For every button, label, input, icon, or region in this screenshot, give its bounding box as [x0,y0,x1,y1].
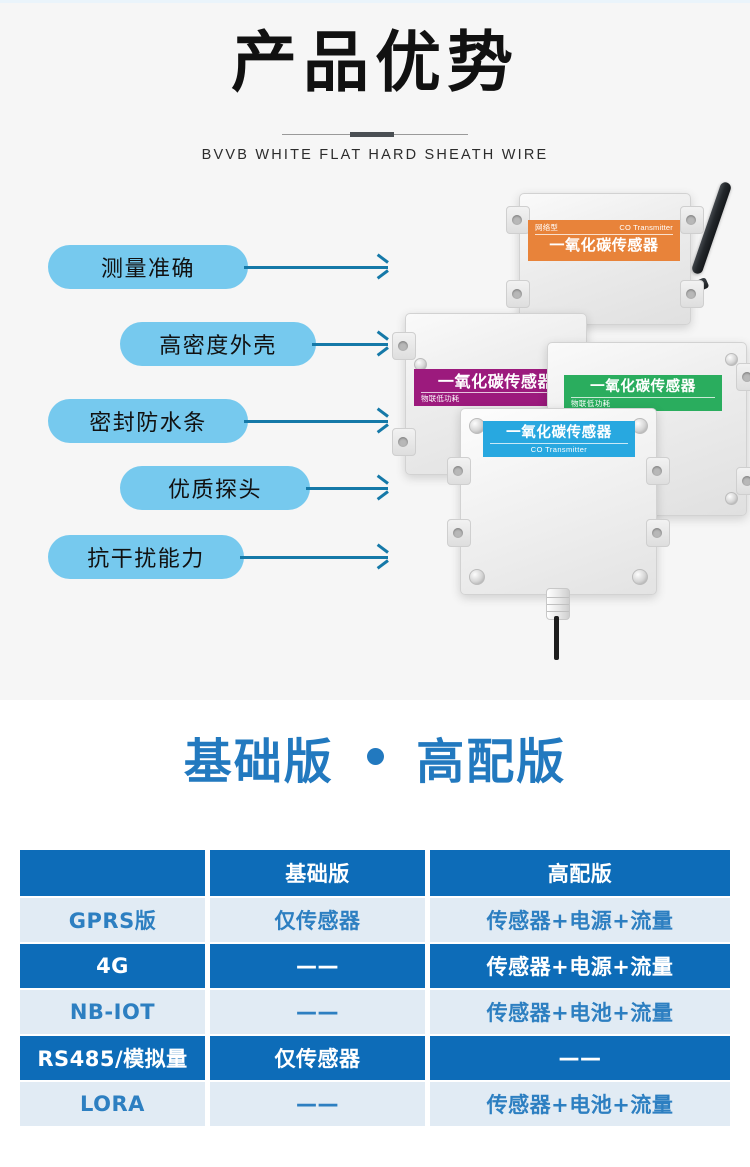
label-tag-left: 网络型 [535,223,558,233]
table-row: 4G —— 传感器+电源+流量 [20,944,730,988]
gland-ring [547,611,569,612]
row-basic-lora: —— [210,1082,425,1126]
product-label-green: 一氧化碳传感器 物联低功耗 [564,375,722,411]
edition-comparison-section: 基础版 高配版 基础版 高配版 GPRS版 仅传感器 传感器+电源+流量 [0,700,750,1167]
mount-ear [736,467,750,495]
mount-ear [392,428,416,456]
row-name-rs485: RS485/模拟量 [20,1036,205,1080]
mount-ear [447,457,471,485]
feature-pill-waterproof-seal[interactable]: 密封防水条 [48,399,248,443]
feature-pill-high-density-shell[interactable]: 高密度外壳 [120,322,316,366]
label-sub-text: CO Transmitter [490,445,628,455]
row-name-lora: LORA [20,1082,205,1126]
product-label-orange: 网络型 CO Transmitter 一氧化碳传感器 [528,220,680,261]
mount-hole [398,341,408,351]
mount-hole [742,372,750,382]
row-basic-rs485: 仅传感器 [210,1036,425,1080]
label-top-row: 网络型 CO Transmitter [535,223,673,233]
page-title: 产品优势 [0,28,750,97]
mount-hole [742,476,750,486]
product-photo-group: 网络型 CO Transmitter 一氧化碳传感器 一氧化碳传感器 [395,120,750,660]
row-name-4g: 4G [20,944,205,988]
row-basic-nbiot: —— [210,990,425,1034]
mount-hole [512,215,522,225]
mount-hole [453,466,463,476]
comparison-table: 基础版 高配版 GPRS版 仅传感器 传感器+电源+流量 4G —— 传感器+电… [20,850,730,1128]
label-tag-right: CO Transmitter [619,223,673,233]
feature-label: 密封防水条 [89,405,207,437]
row-premium-gprs: 传感器+电源+流量 [430,898,730,942]
label-main-text: 一氧化碳传感器 [490,424,628,442]
bullet-dot-icon [367,748,384,765]
table-header-row: 基础版 高配版 [20,850,730,896]
feature-row-5: 抗干扰能力 [48,535,388,579]
arrow-right-icon [244,419,388,423]
row-name-nbiot: NB-IOT [20,990,205,1034]
label-rule [490,443,628,444]
product-label-blue: 一氧化碳传感器 CO Transmitter [483,421,635,457]
product-advantage-page: 产品优势 BVVB WHITE FLAT HARD SHEATH WIRE 测量… [0,0,750,1167]
case-screw [725,353,738,366]
row-premium-rs485: —— [430,1036,730,1080]
label-main-text: 一氧化碳传感器 [535,236,673,255]
table-row: NB-IOT —— 传感器+电池+流量 [20,990,730,1034]
feature-row-2: 高密度外壳 [120,322,388,366]
table-row: RS485/模拟量 仅传感器 —— [20,1036,730,1080]
advantages-section: 产品优势 BVVB WHITE FLAT HARD SHEATH WIRE 测量… [0,0,750,700]
mount-ear [392,332,416,360]
arrow-head [374,413,389,428]
feature-pill-quality-probe[interactable]: 优质探头 [120,466,310,510]
case-diagonal-texture [620,264,682,316]
mount-ear [680,206,704,234]
case-diagonal-texture [676,455,738,507]
case-screw [469,569,485,585]
arrow-right-icon [244,265,388,269]
feature-pill-anti-interference[interactable]: 抗干扰能力 [48,535,244,579]
mount-hole [512,289,522,299]
row-basic-4g: —— [210,944,425,988]
label-sub-left: 物联低功耗 [421,394,460,404]
mount-hole [398,437,408,447]
table-row: GPRS版 仅传感器 传感器+电源+流量 [20,898,730,942]
mount-ear [506,206,530,234]
mount-hole [686,215,696,225]
arrow-shaft [244,266,388,269]
arrow-shaft [244,420,388,423]
section-heading: 基础版 高配版 [0,722,750,792]
row-premium-lora: 传感器+电池+流量 [430,1082,730,1126]
sensor-cable [554,616,559,660]
mount-ear [646,519,670,547]
arrow-right-icon [312,342,388,346]
arrow-right-icon [240,555,388,559]
divider-thick-line [350,132,394,137]
arrow-head [374,549,389,564]
arrow-head [374,480,389,495]
mount-hole [686,289,696,299]
arrow-right-icon [306,486,388,490]
mount-ear [736,363,750,391]
top-hairline [0,0,750,3]
label-main-text: 一氧化碳传感器 [571,378,715,396]
mount-ear [646,457,670,485]
row-premium-nbiot: 传感器+电池+流量 [430,990,730,1034]
gland-ring [547,604,569,605]
heading-premium-edition: 高配版 [416,734,566,790]
case-diagonal-texture [586,534,648,586]
mount-ear [506,280,530,308]
arrow-shaft [240,556,388,559]
mount-hole [652,528,662,538]
arrow-head [374,336,389,351]
label-rule [535,234,673,235]
product-device-standard-blue[interactable]: 一氧化碳传感器 CO Transmitter [460,408,657,595]
header-cell-basic: 基础版 [210,850,425,896]
mount-hole [453,528,463,538]
feature-label: 抗干扰能力 [87,541,205,573]
label-rule [571,397,715,398]
mount-ear [680,280,704,308]
mount-hole [652,466,662,476]
feature-row-4: 优质探头 [120,466,388,510]
feature-pill-measurement-accuracy[interactable]: 测量准确 [48,245,248,289]
feature-label: 测量准确 [101,251,195,283]
header-cell-blank [20,850,205,896]
arrow-head [374,259,389,274]
row-name-gprs: GPRS版 [20,898,205,942]
feature-label: 优质探头 [168,472,262,504]
product-device-network-orange[interactable]: 网络型 CO Transmitter 一氧化碳传感器 [519,193,691,325]
mount-ear [447,519,471,547]
row-basic-gprs: 仅传感器 [210,898,425,942]
heading-basic-edition: 基础版 [184,734,334,790]
header-cell-premium: 高配版 [430,850,730,896]
feature-label: 高密度外壳 [159,328,277,360]
feature-row-1: 测量准确 [48,245,388,289]
cable-gland [546,588,570,620]
gland-ring [547,597,569,598]
feature-row-3: 密封防水条 [48,399,388,443]
row-premium-4g: 传感器+电源+流量 [430,944,730,988]
table-row: LORA —— 传感器+电池+流量 [20,1082,730,1126]
